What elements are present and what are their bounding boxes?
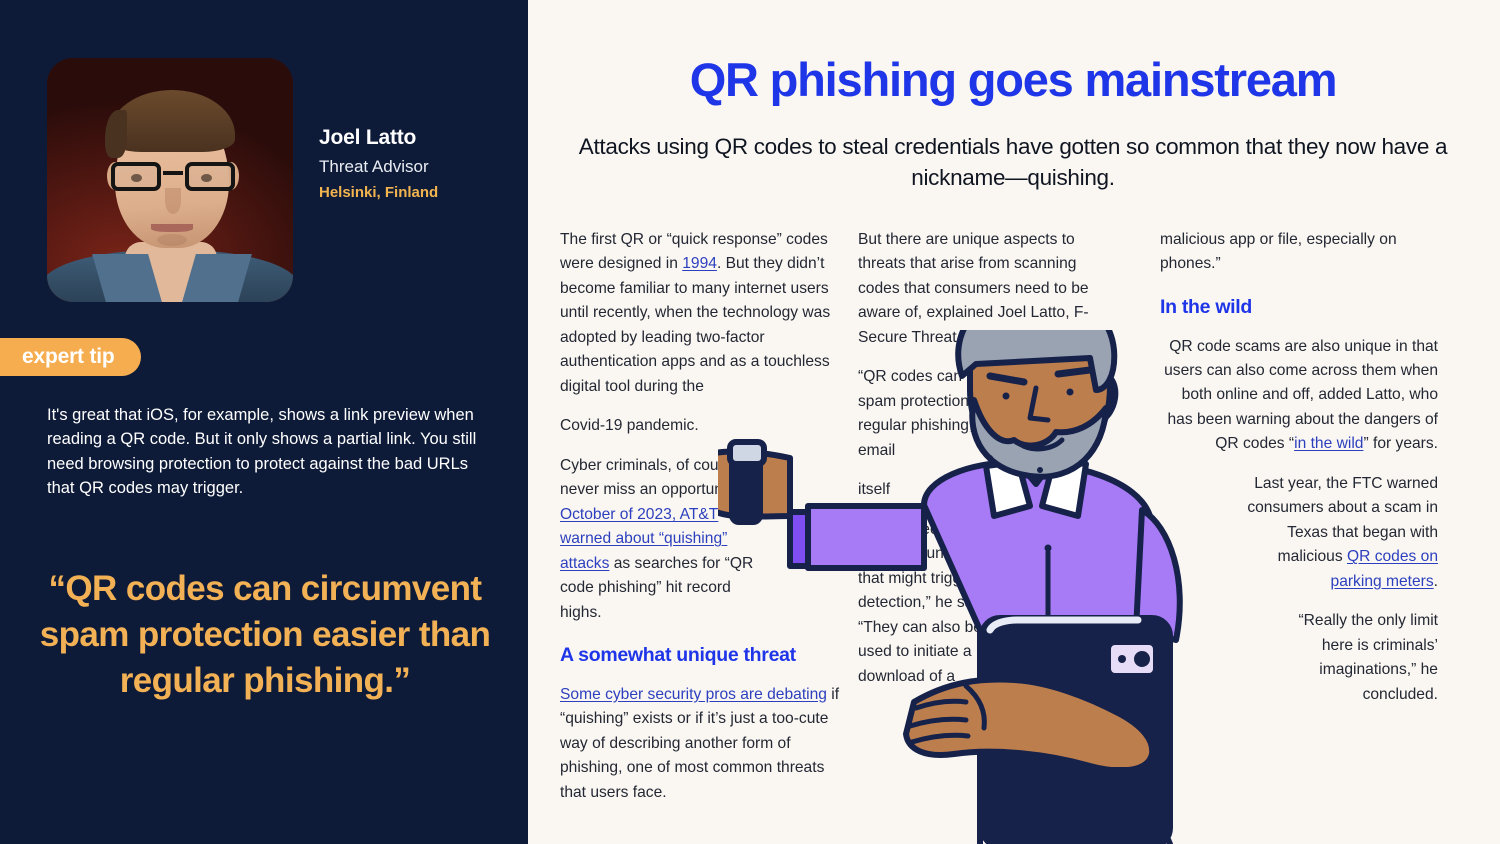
avatar-sideburn — [105, 110, 127, 158]
avatar-glasses-icon — [109, 162, 237, 192]
paragraph-quote-part2: doesn’t need to have any outbound links … — [858, 518, 1008, 689]
paragraph-concluded: “Really the only limit here is criminals… — [1263, 609, 1438, 707]
link-in-the-wild[interactable]: in the wild — [1294, 435, 1363, 452]
criminals-text-a: Cyber criminals, of course, never miss a… — [560, 457, 759, 498]
finger-crease-2 — [910, 719, 966, 726]
link-1994[interactable]: 1994 — [682, 255, 717, 272]
link-parking-meters[interactable]: QR codes on parking meters — [1331, 548, 1438, 589]
origin-text-b: . But they didn’t become familiar to man… — [560, 255, 830, 394]
paragraph-debate: Some cyber security pros are debating if… — [560, 683, 845, 805]
article-content: QR phishing goes mainstream Attacks usin… — [528, 0, 1500, 844]
expert-tip-badge: expert tip — [0, 338, 141, 376]
avatar-chin — [157, 234, 187, 246]
scams-text-b: ” for years. — [1363, 435, 1438, 452]
page-subtitle: Attacks using QR codes to steal credenti… — [558, 131, 1468, 193]
camera-lens-icon — [1134, 651, 1150, 667]
paragraph-quote-part1: “QR codes can circumvent spam protection… — [858, 365, 1058, 463]
right-forearm — [906, 680, 1152, 771]
finger-crease-3 — [912, 735, 968, 742]
paragraph-origin: The first QR or “quick response” codes w… — [560, 228, 845, 399]
profile-sidebar: Joel Latto Threat Advisor Helsinki, Finl… — [0, 0, 528, 844]
waistband — [984, 770, 1146, 796]
link-security-pros-debating[interactable]: Some cyber security pros are debating — [560, 686, 827, 703]
expert-tip-text: It's great that iOS, for example, shows … — [47, 403, 479, 501]
thumb-right — [966, 686, 984, 728]
profile-name: Joel Latto — [319, 126, 438, 150]
avatar-mouth — [151, 224, 193, 232]
profile-location: Helsinki, Finland — [319, 184, 438, 201]
paragraph-quote-itself: itself — [858, 478, 1008, 502]
ftc-text-b: . — [1434, 573, 1438, 590]
tablet-camera-module — [1108, 642, 1156, 676]
glasses-lens-left — [111, 162, 161, 191]
paragraph-unique-aspects: But there are unique aspects to threats … — [858, 228, 1108, 350]
text-column-2: But there are unique aspects to threats … — [858, 228, 1108, 689]
avatar — [47, 58, 293, 302]
paragraph-malicious-app: malicious app or file, especially on pho… — [1160, 228, 1445, 277]
text-column-3: malicious app or file, especially on pho… — [1160, 228, 1445, 707]
paragraph-criminals: Cyber criminals, of course, never miss a… — [560, 454, 765, 625]
text-column-1: The first QR or “quick response” codes w… — [560, 228, 845, 805]
section-heading-unique-threat: A somewhat unique threat — [560, 640, 845, 671]
infographic-page: Joel Latto Threat Advisor Helsinki, Finl… — [0, 0, 1500, 844]
leg-right — [1134, 760, 1170, 844]
pull-quote: “QR codes can circumvent spam protection… — [30, 566, 500, 705]
profile-role: Threat Advisor — [319, 157, 438, 177]
glasses-bridge — [163, 171, 183, 175]
paragraph-ftc: Last year, the FTC warned consumers abou… — [1238, 472, 1438, 594]
paragraph-covid: Covid-19 pandemic. — [560, 414, 765, 438]
page-title: QR phishing goes mainstream — [558, 52, 1468, 107]
glasses-lens-right — [185, 162, 235, 191]
camera-flash-icon — [1118, 655, 1126, 663]
finger-crease-1 — [916, 701, 966, 708]
section-heading-in-the-wild: In the wild — [1160, 292, 1445, 323]
profile-block: Joel Latto Threat Advisor Helsinki, Finl… — [47, 58, 438, 302]
paragraph-scams-unique: QR code scams are also unique in that us… — [1160, 335, 1438, 457]
profile-meta: Joel Latto Threat Advisor Helsinki, Finl… — [319, 58, 438, 201]
